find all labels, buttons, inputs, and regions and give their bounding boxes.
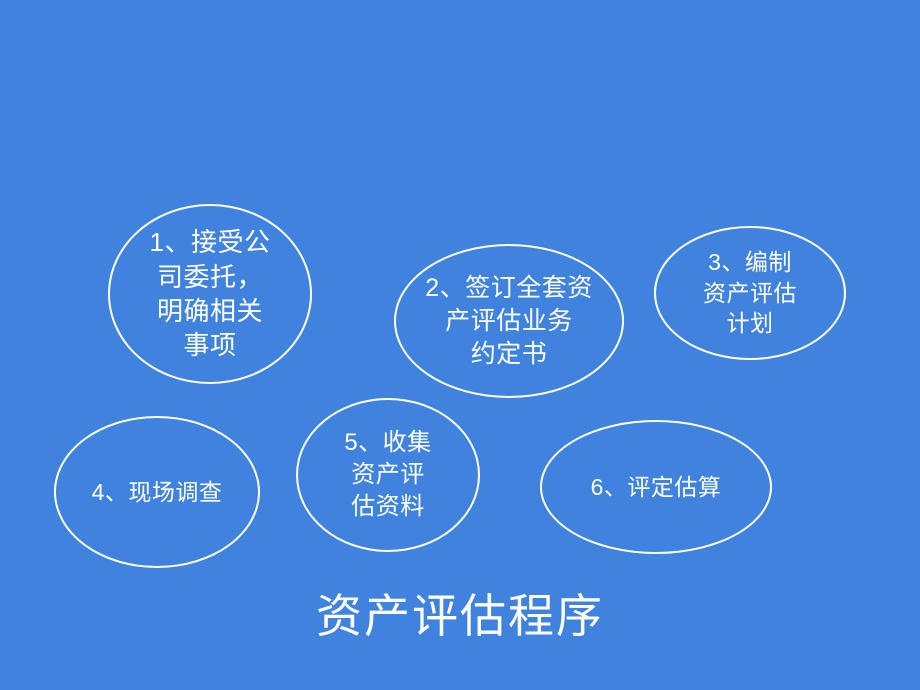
process-step-bubble-4: 4、现场调查 [54,416,260,568]
process-step-bubble-2: 2、签订全套资 产评估业务 约定书 [394,244,624,398]
process-step-bubble-6: 6、评定估算 [540,420,772,554]
bubble-6-label: 6、评定估算 [591,472,722,502]
bubble-3-label: 3、编制 资产评估 计划 [703,247,797,338]
presentation-slide: 1、接受公 司委托， 明确相关 事项 2、签订全套资 产评估业务 约定书 3、编… [0,0,920,690]
process-step-bubble-3: 3、编制 资产评估 计划 [654,226,846,360]
slide-title: 资产评估程序 [0,580,920,646]
process-step-bubble-5: 5、收集 资产评 估资料 [296,398,480,552]
bubble-4-label: 4、现场调查 [92,477,223,507]
bubble-5-label: 5、收集 资产评 估资料 [344,427,431,522]
process-step-bubble-1: 1、接受公 司委托， 明确相关 事项 [108,204,312,384]
bubble-2-label: 2、签订全套资 产评估业务 约定书 [425,272,592,371]
bubble-1-label: 1、接受公 司委托， 明确相关 事项 [150,225,271,362]
